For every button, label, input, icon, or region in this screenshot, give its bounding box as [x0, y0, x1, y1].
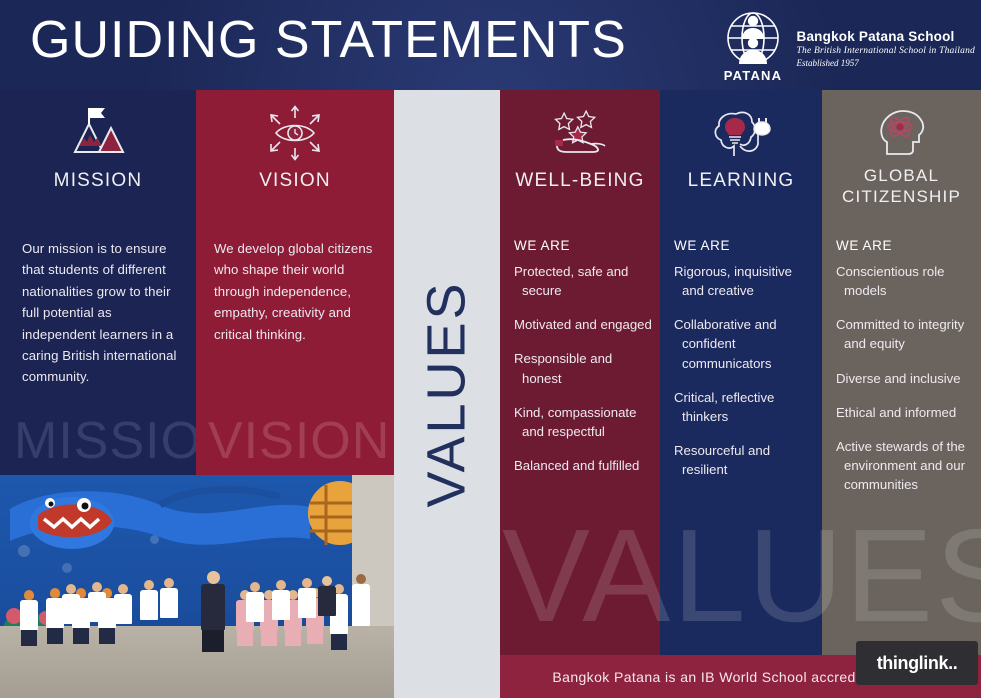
mountain-flag-icon — [63, 102, 133, 164]
wellbeing-intro: WE ARE — [514, 238, 570, 253]
mission-label: MISSION — [54, 170, 143, 192]
global-label-line1: GLOBAL — [864, 166, 939, 186]
school-logo: PATANA Bangkok Patana School The British… — [717, 8, 975, 84]
list-item: Critical, reflective thinkers — [674, 388, 814, 426]
patana-globe-icon: PATANA — [717, 8, 789, 84]
list-item: Active stewards of the environment and o… — [836, 437, 973, 494]
learning-intro: WE ARE — [674, 238, 730, 253]
list-item: Motivated and engaged — [514, 315, 652, 334]
column-wellbeing: WELL-BEING WE ARE Protected, safe and se… — [500, 90, 660, 655]
vision-body: We develop global citizens who shape the… — [214, 238, 376, 345]
student-figure — [160, 578, 178, 618]
global-list: Conscientious role models Committed to i… — [836, 262, 973, 509]
school-name: Bangkok Patana School — [797, 29, 975, 44]
column-vision: VISION We develop global citizens who sh… — [196, 90, 394, 475]
page-title: GUIDING STATEMENTS — [30, 10, 627, 70]
wellbeing-list: Protected, safe and secure Motivated and… — [514, 262, 652, 490]
student-figure — [298, 578, 316, 618]
mission-header: MISSION — [0, 90, 196, 228]
learning-list: Rigorous, inquisitive and creative Colla… — [674, 262, 814, 494]
student-figure — [352, 574, 370, 626]
list-item: Collaborative and confident communicator… — [674, 315, 814, 372]
eye-arrows-icon — [260, 102, 330, 164]
mission-body: Our mission is to ensure that students o… — [22, 238, 180, 388]
hand-stars-icon — [545, 102, 615, 164]
list-item: Resourceful and resilient — [674, 441, 814, 479]
values-vertical-label: VALUES — [394, 90, 500, 698]
head-atom-icon — [867, 102, 937, 164]
guiding-statements-poster: GUIDING STATEMENTS PATANA — [0, 0, 981, 698]
learning-label: LEARNING — [688, 170, 795, 192]
column-global-citizenship: GLOBAL CITIZENSHIP WE ARE Conscientious … — [822, 90, 981, 655]
student-figure — [88, 582, 106, 622]
adult-figure — [318, 576, 336, 616]
vision-header: VISION — [196, 90, 394, 228]
wellbeing-header: WELL-BEING — [500, 90, 660, 228]
adult-figure — [200, 571, 226, 652]
list-item: Diverse and inclusive — [836, 369, 973, 388]
student-figure — [246, 582, 264, 622]
student-figure — [20, 590, 38, 646]
values-label: VALUES — [416, 280, 478, 507]
mural-background — [0, 475, 394, 698]
global-label-line2: CITIZENSHIP — [842, 187, 961, 207]
list-item: Protected, safe and secure — [514, 262, 652, 300]
thinglink-label: thinglink.. — [877, 653, 958, 674]
list-item: Responsible and honest — [514, 349, 652, 387]
column-learning: LEARNING WE ARE Rigorous, inquisitive an… — [660, 90, 822, 655]
student-figure — [114, 584, 132, 624]
school-tagline: The British International School in Thai… — [797, 46, 975, 56]
student-figure — [62, 584, 80, 624]
column-mission: MISSION Our mission is to ensure that st… — [0, 90, 196, 475]
list-item: Committed to integrity and equity — [836, 315, 973, 353]
global-intro: WE ARE — [836, 238, 892, 253]
svg-text:PATANA: PATANA — [723, 68, 781, 83]
poster-header: GUIDING STATEMENTS PATANA — [0, 0, 981, 90]
school-established: Established 1957 — [797, 58, 975, 68]
list-item: Rigorous, inquisitive and creative — [674, 262, 814, 300]
logo-text: Bangkok Patana School The British Intern… — [797, 25, 975, 68]
brain-bulb-plug-icon — [706, 102, 776, 164]
list-item: Conscientious role models — [836, 262, 973, 300]
thinglink-watermark: thinglink.. — [856, 641, 978, 685]
students-group-photo — [0, 475, 394, 698]
learning-header: LEARNING — [660, 90, 822, 228]
wellbeing-label: WELL-BEING — [515, 170, 644, 192]
mission-watermark: MISSION — [14, 415, 196, 467]
list-item: Ethical and informed — [836, 403, 973, 422]
global-header: GLOBAL CITIZENSHIP — [822, 90, 981, 228]
vision-watermark: VISION — [208, 415, 390, 467]
vision-label: VISION — [259, 170, 331, 192]
list-item: Balanced and fulfilled — [514, 456, 652, 475]
list-item: Kind, compassionate and respectful — [514, 403, 652, 441]
student-figure — [140, 580, 158, 620]
student-figure — [272, 580, 290, 620]
